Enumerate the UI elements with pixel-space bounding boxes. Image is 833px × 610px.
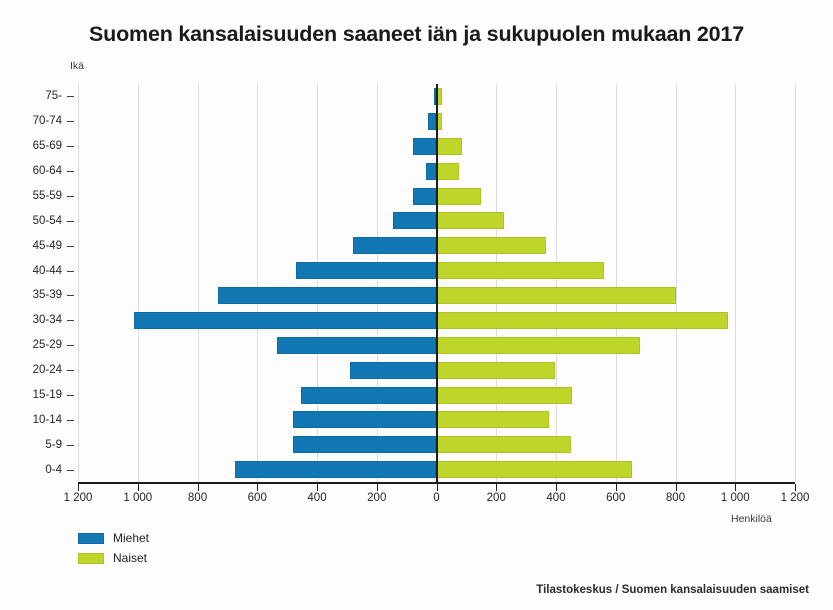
- y-axis-caption: Ikä: [70, 60, 84, 72]
- bar-female-20-24: [437, 362, 555, 379]
- plot-area: [78, 84, 795, 482]
- bar-male-5-9: [293, 436, 436, 453]
- legend-label: Naiset: [113, 551, 147, 565]
- bar-female-40-44: [437, 262, 604, 279]
- x-tick-label: 800: [188, 492, 207, 504]
- x-tick-label: 1 000: [721, 492, 750, 504]
- x-tick-mark: [616, 484, 617, 491]
- y-tick-label: 55-59: [33, 190, 62, 202]
- y-tick-mark: [67, 121, 74, 122]
- legend-label: Miehet: [113, 531, 149, 545]
- x-tick-mark: [437, 484, 438, 491]
- x-tick-mark: [377, 484, 378, 491]
- y-tick-mark: [67, 146, 74, 147]
- bar-male-65-69: [413, 138, 436, 155]
- y-tick-label: 40-44: [33, 265, 62, 277]
- chart-figure: Suomen kansalaisuuden saaneet iän ja suk…: [0, 0, 833, 610]
- bar-male-10-14: [293, 411, 436, 428]
- x-tick-label: 1 200: [781, 492, 810, 504]
- bar-male-30-34: [134, 312, 437, 329]
- x-tick-mark: [257, 484, 258, 491]
- legend-item-naiset[interactable]: Naiset: [78, 548, 149, 568]
- bar-female-15-19: [437, 387, 573, 404]
- bar-male-45-49: [353, 237, 436, 254]
- x-tick-mark: [138, 484, 139, 491]
- y-tick-label: 0-4: [45, 464, 62, 476]
- x-tick-label: 800: [666, 492, 685, 504]
- bar-female-5-9: [437, 436, 571, 453]
- x-tick-label: 200: [487, 492, 506, 504]
- y-tick-label: 5-9: [45, 439, 62, 451]
- x-tick-label: 600: [248, 492, 267, 504]
- x-tick-mark: [78, 484, 79, 491]
- y-tick-label: 75-: [45, 90, 62, 102]
- y-tick-mark: [67, 470, 74, 471]
- y-axis-labels: 75-70-7465-6960-6455-5950-5445-4940-4435…: [0, 84, 74, 482]
- bar-male-40-44: [296, 262, 436, 279]
- y-tick-mark: [67, 345, 74, 346]
- x-tick-label: 1 200: [64, 492, 93, 504]
- bar-female-25-29: [437, 337, 640, 354]
- x-tick-mark: [735, 484, 736, 491]
- x-tick-label: 0: [433, 492, 439, 504]
- bar-female-10-14: [437, 411, 549, 428]
- y-tick-mark: [67, 271, 74, 272]
- x-tick-label: 400: [307, 492, 326, 504]
- y-tick-mark: [67, 96, 74, 97]
- legend-swatch-icon: [78, 533, 104, 544]
- bar-male-15-19: [301, 387, 437, 404]
- bar-female-60-64: [437, 163, 459, 180]
- x-tick-mark: [676, 484, 677, 491]
- y-tick-mark: [67, 295, 74, 296]
- y-tick-mark: [67, 420, 74, 421]
- y-tick-label: 60-64: [33, 165, 62, 177]
- bar-male-50-54: [393, 212, 436, 229]
- bar-female-65-69: [437, 138, 462, 155]
- y-tick-mark: [67, 196, 74, 197]
- y-tick-label: 65-69: [33, 140, 62, 152]
- bar-female-35-39: [437, 287, 676, 304]
- y-tick-label: 45-49: [33, 240, 62, 252]
- y-tick-label: 25-29: [33, 339, 62, 351]
- x-tick-label: 400: [546, 492, 565, 504]
- bar-female-0-4: [437, 461, 632, 478]
- zero-axis-line: [436, 84, 438, 482]
- y-tick-label: 30-34: [33, 314, 62, 326]
- y-tick-mark: [67, 320, 74, 321]
- bar-female-55-59: [437, 188, 482, 205]
- y-tick-mark: [67, 445, 74, 446]
- y-tick-label: 35-39: [33, 289, 62, 301]
- x-tick-mark: [795, 484, 796, 491]
- bar-male-25-29: [277, 337, 437, 354]
- y-tick-mark: [67, 246, 74, 247]
- source-note: Tilastokeskus / Suomen kansalaisuuden sa…: [536, 584, 809, 596]
- bar-male-55-59: [413, 188, 437, 205]
- x-tick-label: 600: [606, 492, 625, 504]
- legend-swatch-icon: [78, 553, 104, 564]
- x-tick-label: 1 000: [123, 492, 152, 504]
- gridline: [795, 84, 796, 482]
- bar-female-30-34: [437, 312, 729, 329]
- y-tick-label: 20-24: [33, 364, 62, 376]
- x-tick-label: 200: [367, 492, 386, 504]
- bar-male-20-24: [350, 362, 437, 379]
- page-title: Suomen kansalaisuuden saaneet iän ja suk…: [0, 22, 833, 47]
- bar-female-45-49: [437, 237, 546, 254]
- x-tick-mark: [198, 484, 199, 491]
- y-tick-label: 50-54: [33, 215, 62, 227]
- y-tick-mark: [67, 395, 74, 396]
- bar-female-50-54: [437, 212, 504, 229]
- x-tick-mark: [556, 484, 557, 491]
- x-axis-caption: Henkilöä: [731, 513, 772, 525]
- x-tick-mark: [317, 484, 318, 491]
- y-tick-label: 15-19: [33, 389, 62, 401]
- bar-male-0-4: [235, 461, 436, 478]
- y-tick-label: 10-14: [33, 414, 62, 426]
- y-tick-mark: [67, 171, 74, 172]
- bar-male-35-39: [218, 287, 436, 304]
- y-tick-mark: [67, 370, 74, 371]
- y-tick-mark: [67, 221, 74, 222]
- x-tick-mark: [496, 484, 497, 491]
- y-tick-label: 70-74: [33, 115, 62, 127]
- legend-item-miehet[interactable]: Miehet: [78, 528, 149, 548]
- legend: MiehetNaiset: [78, 528, 149, 568]
